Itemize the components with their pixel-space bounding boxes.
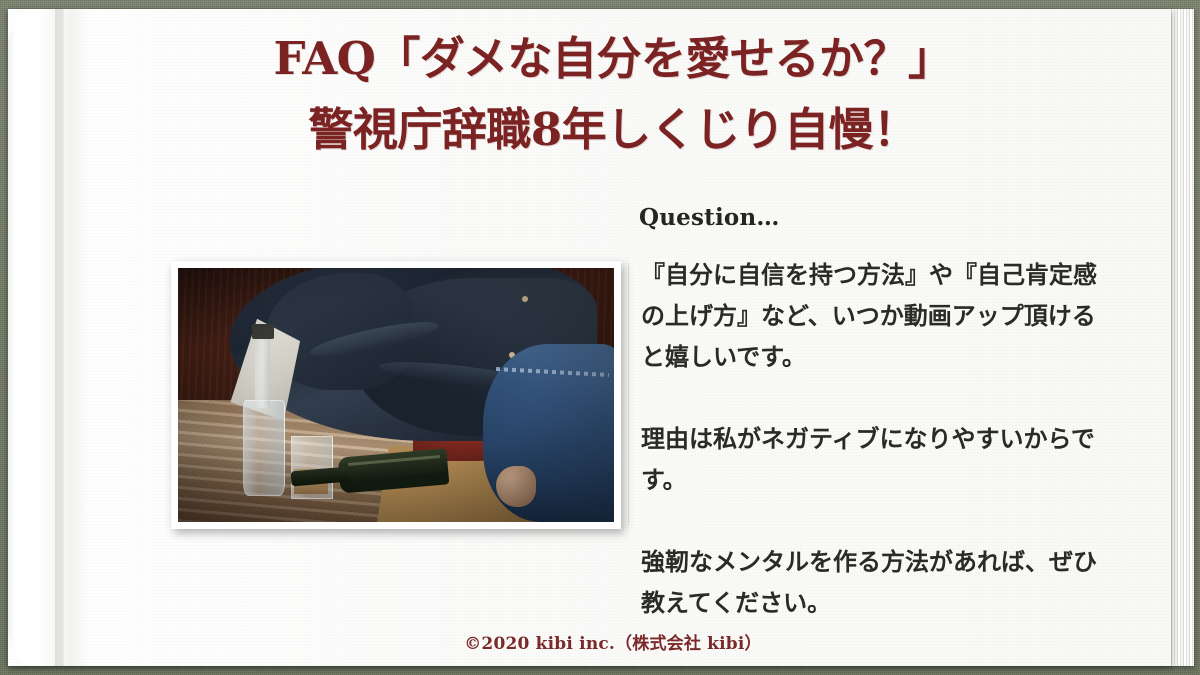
question-paragraph-3: 強靭なメンタルを作る方法があれば、ぜひ教えてください。 bbox=[641, 542, 1109, 624]
textbox-left-rule bbox=[628, 263, 629, 525]
copyright-footer: ©2020 kibi inc.（株式会社 kibi） bbox=[68, 629, 1158, 654]
photo-frame bbox=[171, 261, 621, 529]
question-paragraph-2: 理由は私がネガティブになりやすいからです。 bbox=[641, 419, 1109, 501]
question-paragraph-1: 『自分に自信を持つ方法』や『自己肯定感の上げ方』など、いつか動画アップ頂けると嬉… bbox=[641, 255, 1109, 378]
page-curl-decoration bbox=[8, 9, 64, 666]
title-line-1: FAQ「ダメな自分を愛せるか？」 bbox=[68, 23, 1158, 95]
photo-vignette bbox=[178, 268, 614, 522]
question-body: 『自分に自信を持つ方法』や『自己肯定感の上げ方』など、いつか動画アップ頂けると嬉… bbox=[641, 255, 1109, 624]
page-curl-shadow bbox=[55, 9, 65, 666]
paragraph-spacer-1 bbox=[641, 378, 1109, 419]
paper-page: FAQ「ダメな自分を愛せるか？」 警視庁辞職8年しくじり自慢！ bbox=[8, 9, 1171, 666]
photo-image bbox=[178, 268, 614, 522]
slide-canvas: FAQ「ダメな自分を愛せるか？」 警視庁辞職8年しくじり自慢！ bbox=[0, 0, 1200, 675]
paragraph-spacer-2 bbox=[641, 501, 1109, 542]
question-heading: Question… bbox=[639, 204, 780, 231]
title-line-2: 警視庁辞職8年しくじり自慢！ bbox=[68, 95, 1158, 165]
page-title: FAQ「ダメな自分を愛せるか？」 警視庁辞職8年しくじり自慢！ bbox=[68, 23, 1158, 165]
